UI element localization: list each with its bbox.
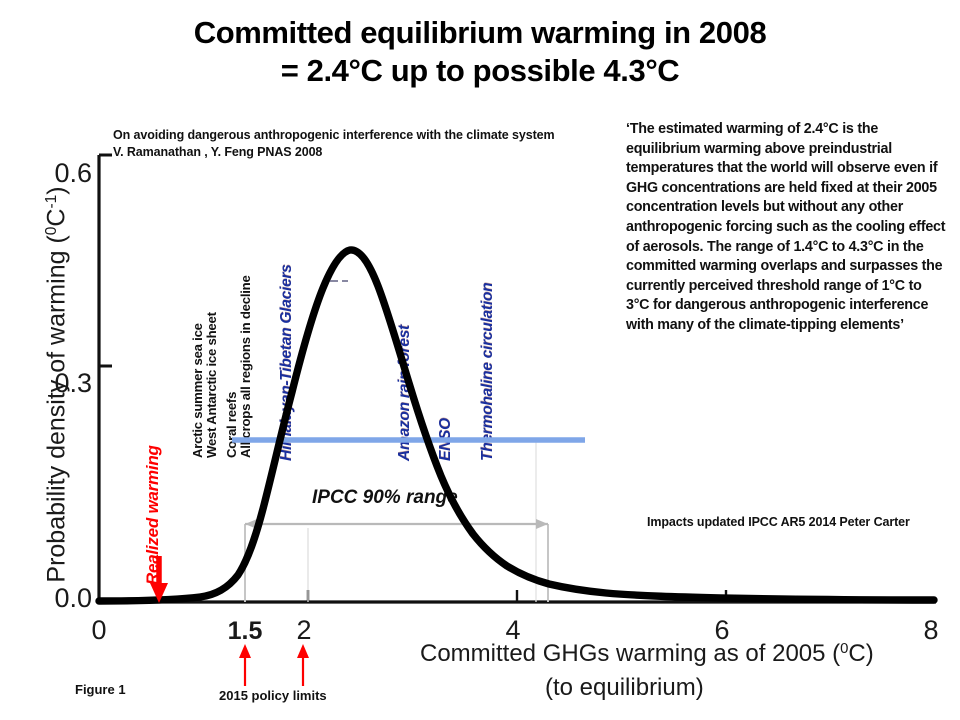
realized-warming-arrow — [150, 556, 168, 603]
policy-limit-arrow-1-5 — [239, 644, 251, 686]
policy-limit-arrow-2 — [297, 644, 309, 686]
probability-density-chart — [0, 0, 960, 720]
probability-density-curve — [99, 250, 934, 601]
ipcc-range-guides — [245, 440, 548, 602]
ipcc-90-range-arrow — [245, 519, 548, 529]
axis-lines — [99, 155, 936, 602]
